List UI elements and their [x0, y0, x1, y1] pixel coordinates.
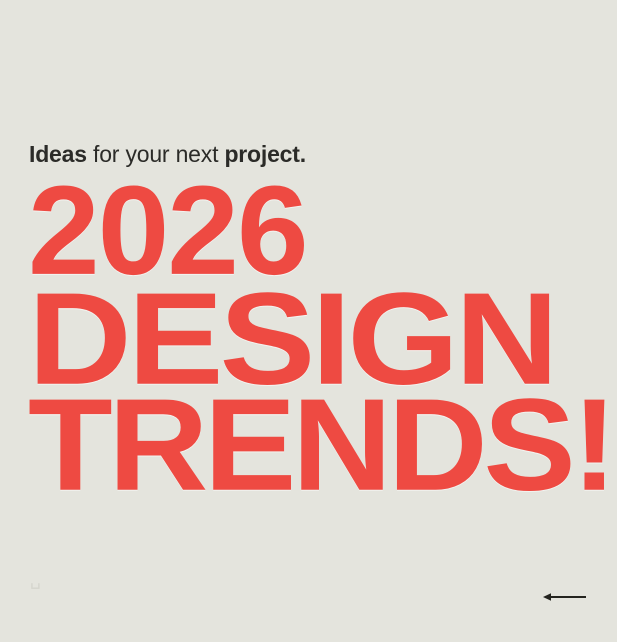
poster-headline: 2026 DESIGN TRENDS! [28, 178, 598, 498]
corner-watermark: ␣ [30, 570, 41, 590]
poster-canvas: Ideas for your next project. 2026 DESIGN… [0, 0, 617, 642]
back-arrow-button[interactable] [543, 586, 589, 608]
arrow-left-icon [543, 591, 587, 603]
headline-line-trends: TRENDS! [28, 390, 617, 500]
